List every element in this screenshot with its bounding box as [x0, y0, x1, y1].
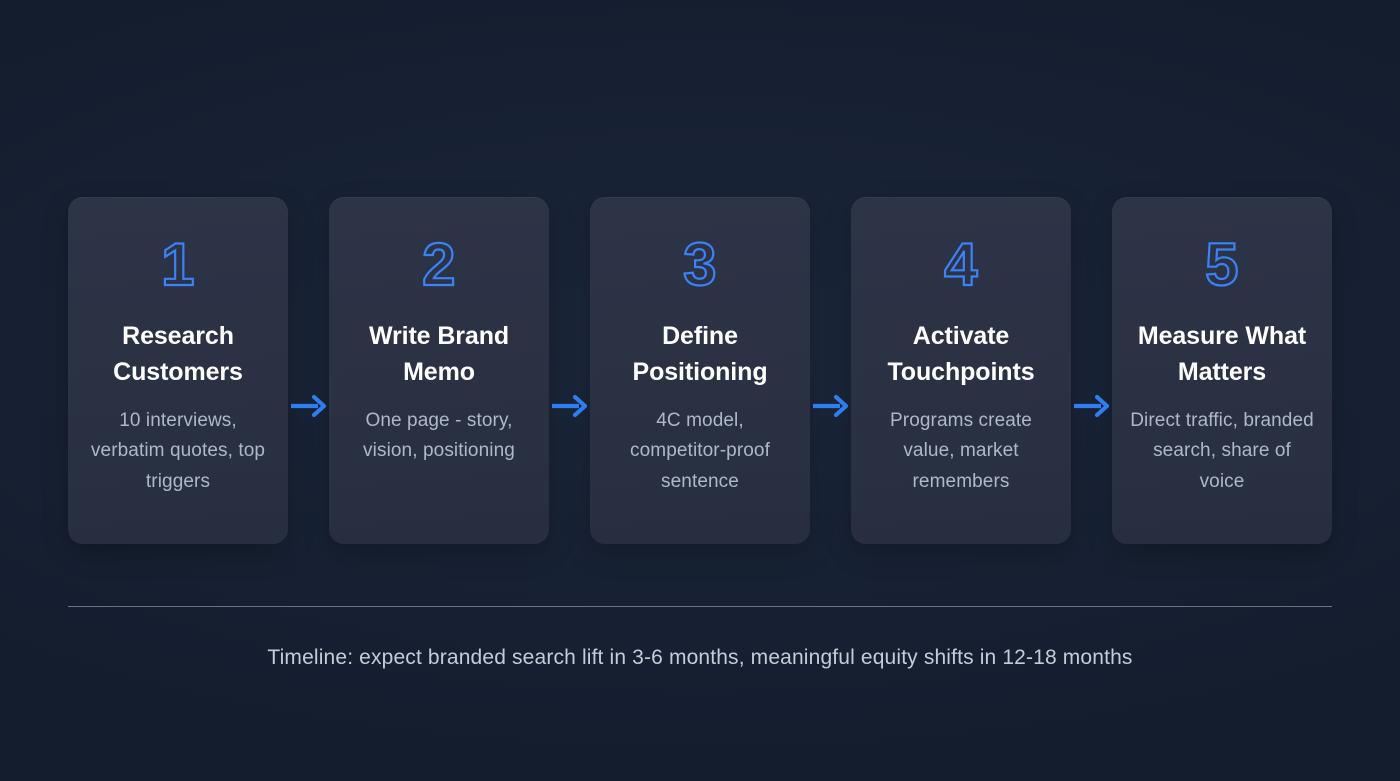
step-description-4: Programs create value, market remembers: [867, 406, 1055, 497]
step-number-5: 5: [1205, 235, 1239, 295]
step-title-4: Activate Touchpoints: [867, 319, 1055, 390]
process-step-row: 1 Research Customers 10 interviews, verb…: [68, 197, 1332, 544]
step-card-5[interactable]: 5 Measure What Matters Direct traffic, b…: [1112, 197, 1332, 544]
slide-canvas: 1 Research Customers 10 interviews, verb…: [0, 0, 1400, 781]
arrow-right-icon-2: [549, 385, 590, 426]
step-description-2: One page - story, vision, positioning: [345, 406, 533, 467]
step-number-2: 2: [422, 235, 456, 295]
step-number-4: 4: [944, 235, 978, 295]
step-card-4[interactable]: 4 Activate Touchpoints Programs create v…: [851, 197, 1071, 544]
step-card-3[interactable]: 3 Define Positioning 4C model, competito…: [590, 197, 810, 544]
footer-divider: [68, 606, 1332, 607]
step-description-1: 10 interviews, verbatim quotes, top trig…: [84, 406, 272, 497]
arrow-right-icon-4: [1071, 385, 1112, 426]
step-number-1: 1: [161, 235, 195, 295]
step-description-5: Direct traffic, branded search, share of…: [1128, 406, 1316, 497]
step-title-5: Measure What Matters: [1128, 319, 1316, 390]
arrow-right-icon-1: [288, 385, 329, 426]
step-description-3: 4C model, competitor-proof sentence: [606, 406, 794, 497]
step-card-1[interactable]: 1 Research Customers 10 interviews, verb…: [68, 197, 288, 544]
step-card-2[interactable]: 2 Write Brand Memo One page - story, vis…: [329, 197, 549, 544]
step-title-1: Research Customers: [84, 319, 272, 390]
step-title-2: Write Brand Memo: [345, 319, 533, 390]
arrow-right-icon-3: [810, 385, 851, 426]
timeline-note: Timeline: expect branded search lift in …: [0, 646, 1400, 670]
step-number-3: 3: [683, 235, 717, 295]
step-title-3: Define Positioning: [606, 319, 794, 390]
